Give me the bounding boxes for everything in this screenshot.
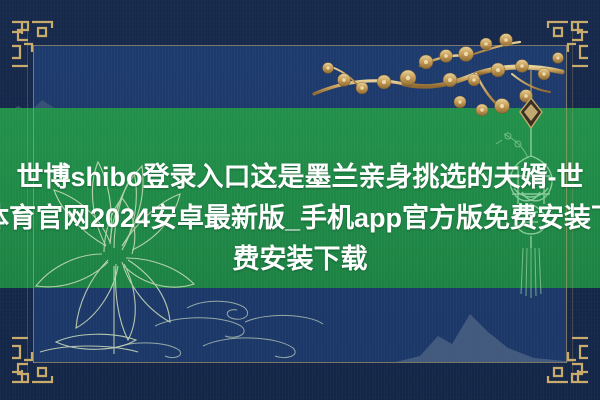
chinese-fret-corner-icon <box>8 18 60 70</box>
title-line-3: 费安装下载 <box>233 239 368 280</box>
banner-image: 世博shibo登录入口这是墨兰亲身挑选的夫婿-世 体育官网2024安卓最新版_手… <box>0 0 600 400</box>
page-title: 世博shibo登录入口这是墨兰亲身挑选的夫婿-世 体育官网2024安卓最新版_手… <box>0 108 600 288</box>
chinese-fret-corner-icon <box>8 334 60 386</box>
frame-line-top <box>33 45 567 46</box>
frame-line-bottom <box>33 362 567 363</box>
title-line-1: 世博shibo登录入口这是墨兰亲身挑选的夫婿-世 <box>17 157 584 198</box>
chinese-fret-corner-icon <box>540 334 592 386</box>
chinese-fret-corner-icon <box>540 18 592 70</box>
title-line-2: 体育官网2024安卓最新版_手机app官方版免费安装下 <box>0 198 600 239</box>
